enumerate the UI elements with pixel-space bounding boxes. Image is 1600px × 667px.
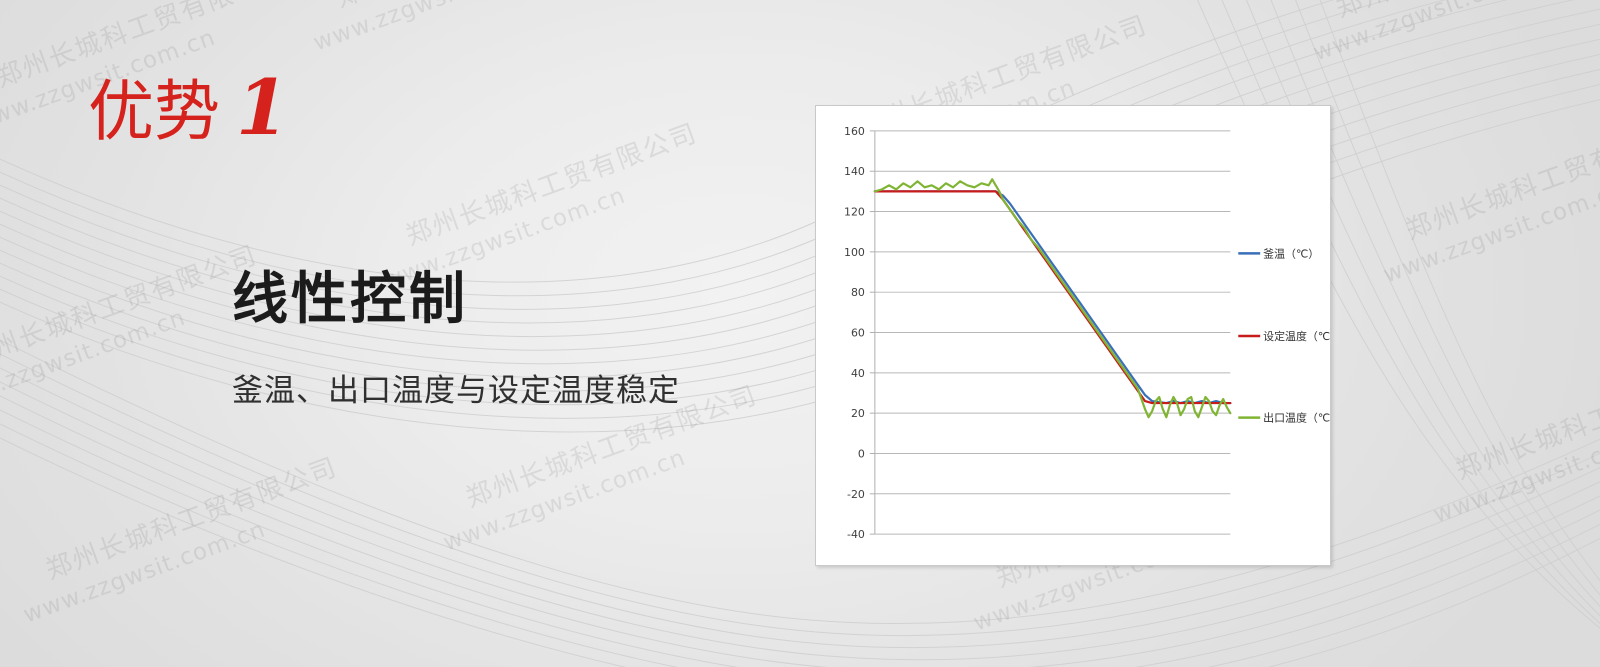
watermark-url: www.zzgwsit.com.cn	[20, 517, 269, 629]
advantage-badge-number: 1	[236, 63, 289, 152]
y-axis-tick-label: -40	[847, 528, 865, 541]
watermark-url: www.zzgwsit.com.cn	[0, 305, 189, 417]
series-line	[875, 191, 1230, 403]
temperature-line-chart: 160140120100806040200-20-40釜温（℃）设定温度（℃）出…	[816, 106, 1330, 565]
chart-panel: 160140120100806040200-20-40釜温（℃）设定温度（℃）出…	[815, 105, 1331, 566]
y-axis-tick-label: 120	[844, 206, 865, 219]
watermark-company: 郑州长城科工贸有限公司	[330, 0, 632, 15]
legend-label: 设定温度（℃）	[1263, 329, 1330, 343]
watermark-company: 郑州长城科工贸有限公司	[1450, 347, 1600, 487]
watermark-company: 郑州长城科工贸有限公司	[1330, 0, 1600, 25]
watermark-company: 郑州长城科工贸有限公司	[0, 235, 262, 375]
watermark-company: 郑州长城科工贸有限公司	[400, 113, 702, 253]
series-line	[875, 191, 1230, 403]
y-axis-tick-label: 80	[851, 286, 865, 299]
series-line	[875, 179, 1230, 417]
watermark-url: www.zzgwsit.com.cn	[310, 0, 559, 56]
watermark-company: 郑州长城科工贸有限公司	[40, 447, 342, 587]
slide-canvas: 郑州长城科工贸有限公司 www.zzgwsit.com.cn 郑州长城科工贸有限…	[0, 0, 1600, 667]
y-axis-tick-label: 60	[851, 326, 865, 339]
page-title: 线性控制	[232, 272, 468, 328]
watermark-url: www.zzgwsit.com.cn	[1310, 0, 1559, 66]
legend-label: 出口温度（℃）	[1263, 411, 1330, 425]
advantage-badge: 优势1	[88, 70, 289, 146]
y-axis-tick-label: 20	[851, 407, 865, 420]
y-axis-tick-label: 0	[858, 447, 865, 460]
watermark-company: 郑州长城科工贸有限公司	[1400, 107, 1600, 247]
y-axis-tick-label: 140	[844, 165, 865, 178]
y-axis-tick-label: 160	[844, 125, 865, 138]
y-axis-tick-label: -20	[847, 488, 865, 501]
watermark-url: www.zzgwsit.com.cn	[440, 445, 689, 557]
watermark-url: www.zzgwsit.com.cn	[1430, 417, 1600, 529]
legend-label: 釜温（℃）	[1263, 246, 1319, 260]
watermark-url: www.zzgwsit.com.cn	[1380, 177, 1600, 289]
page-subtitle: 釜温、出口温度与设定温度稳定	[232, 371, 680, 411]
advantage-badge-text: 优势	[88, 73, 220, 150]
y-axis-tick-label: 40	[851, 367, 865, 380]
y-axis-tick-label: 100	[844, 246, 865, 259]
